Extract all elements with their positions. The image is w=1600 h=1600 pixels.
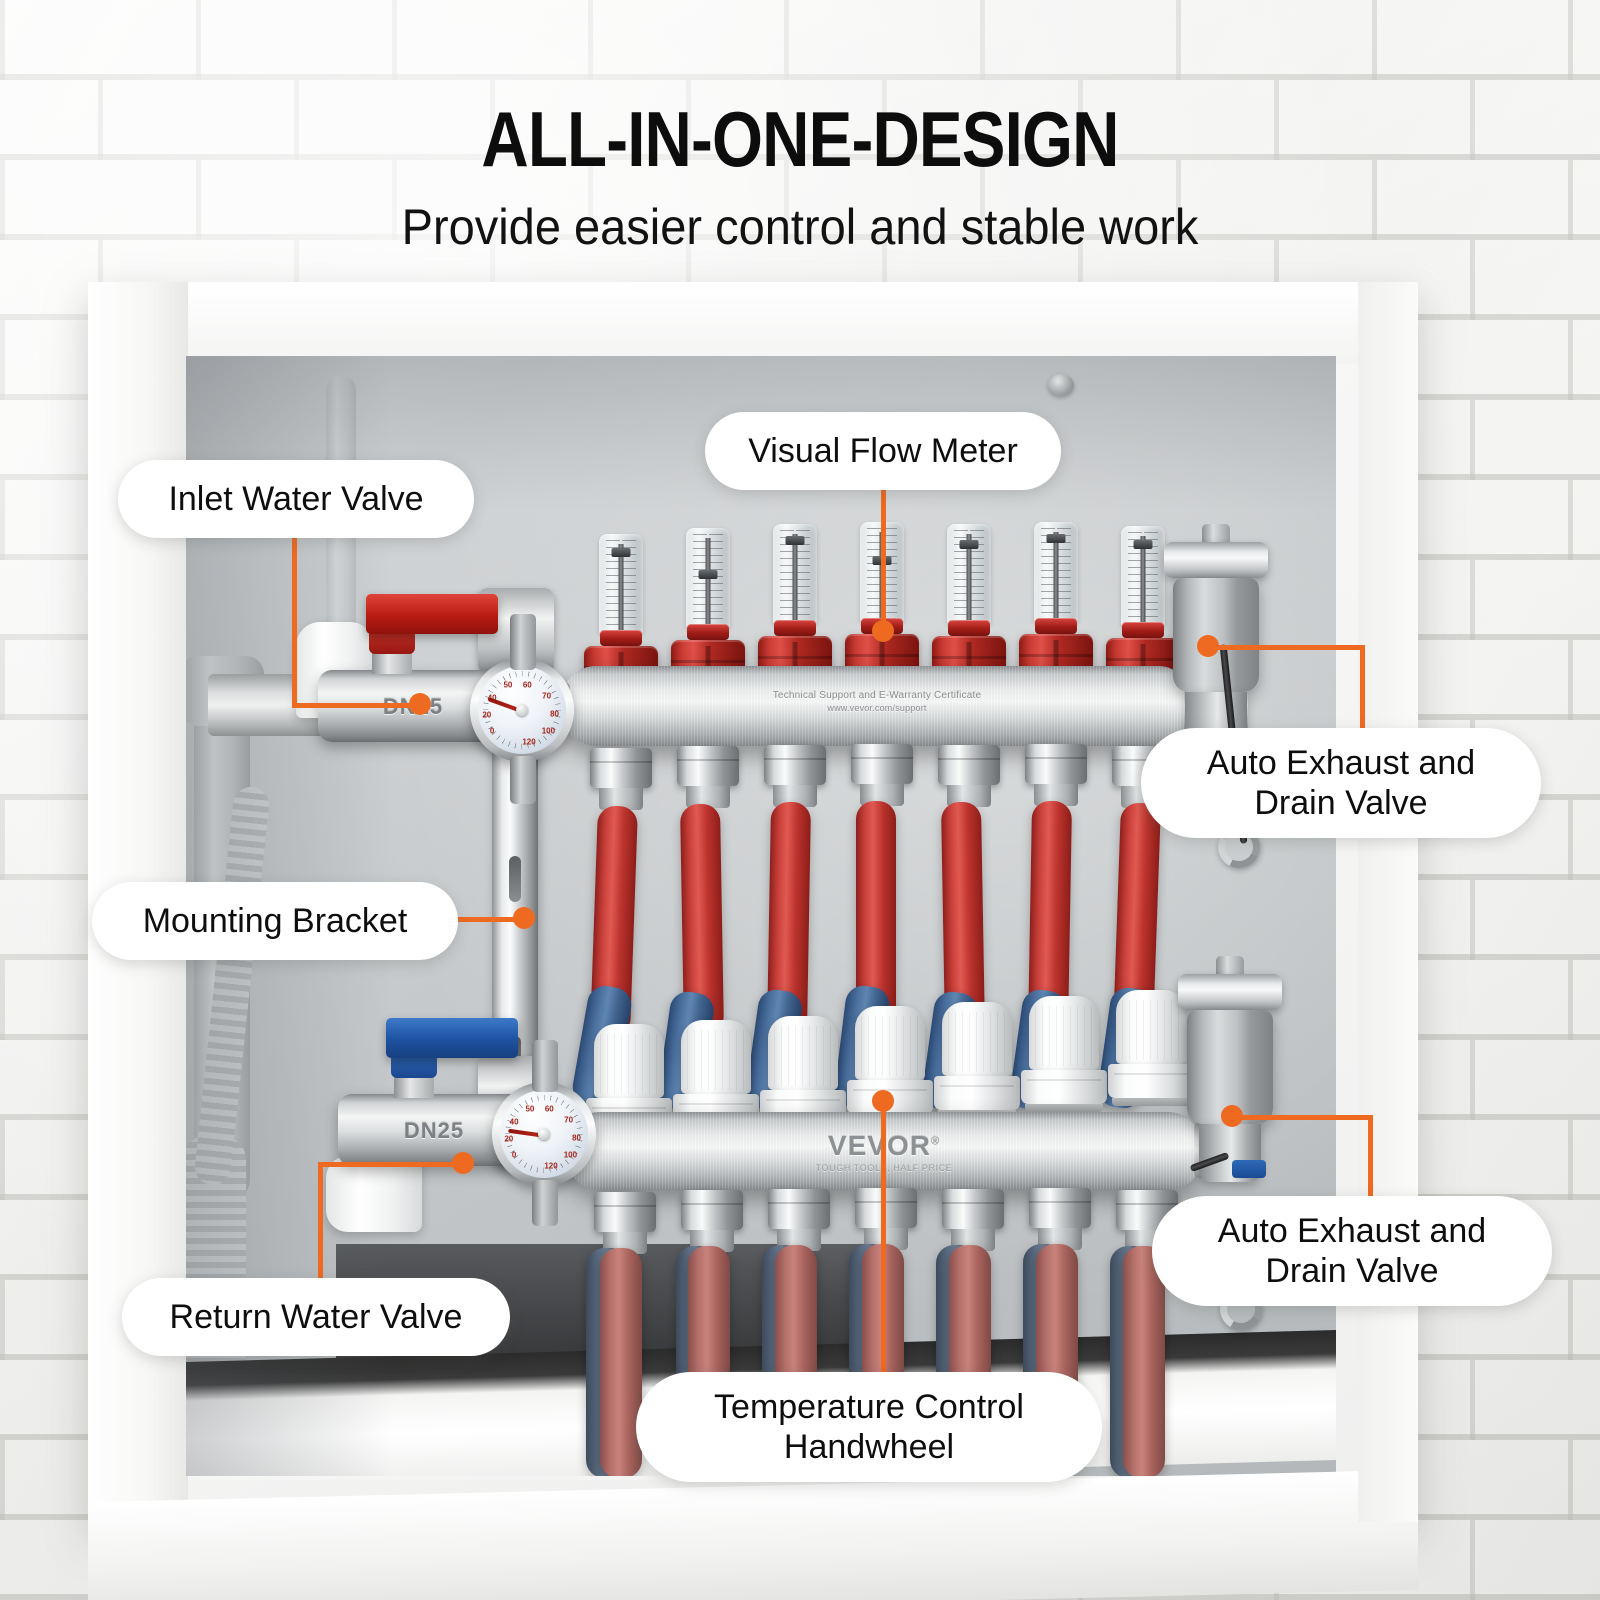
gauge-face: 0 20 40 50 60 70 80 100 120	[500, 1090, 588, 1178]
compression-fitting[interactable]	[1025, 744, 1087, 806]
engraving-line-1: Technical Support and E-Warranty Certifi…	[773, 690, 982, 701]
handwheel-dome	[681, 1020, 751, 1094]
gauge-tick-label: 50	[503, 681, 512, 690]
gauge-tick-label: 50	[525, 1105, 534, 1114]
page-title: ALL-IN-ONE-DESIGN	[128, 100, 1472, 178]
fitting-nut	[677, 746, 739, 786]
callout-mounting-bracket[interactable]: Mounting Bracket	[92, 882, 458, 960]
auto-exhaust-drain-valve-lower[interactable]	[1176, 956, 1284, 1182]
fitting-nut	[855, 1188, 917, 1228]
temperature-control-handwheel[interactable]	[934, 1002, 1020, 1118]
header-block: ALL-IN-ONE-DESIGN Provide easier control…	[0, 0, 1600, 252]
leader-dot-auto-exhaust-upper	[1197, 635, 1219, 657]
infographic-canvas: ALL-IN-ONE-DESIGN Provide easier control…	[0, 0, 1600, 1600]
registered-mark: ®	[931, 1136, 940, 1148]
brand-text: VEVOR	[828, 1130, 931, 1161]
callout-inlet-water-valve[interactable]: Inlet Water Valve	[118, 460, 474, 538]
leader-line-auto-exhaust-lower	[1230, 1115, 1372, 1120]
compression-fitting[interactable]	[942, 1189, 1004, 1251]
auto-exhaust-drain-valve-upper[interactable]	[1162, 524, 1270, 750]
leader-dot-return-water-valve	[452, 1152, 474, 1174]
gauge-tick-label: 120	[522, 737, 535, 746]
leader-dot-mounting-bracket	[513, 907, 535, 929]
leader-line-temperature-control-handwheel	[881, 1100, 886, 1380]
gauge-tick-label: 60	[545, 1105, 554, 1114]
gauge-tick-label: 70	[542, 691, 551, 700]
compression-fitting[interactable]	[1029, 1188, 1091, 1250]
gauge-tick-label: 0	[512, 1151, 516, 1160]
handwheel-base	[1025, 1104, 1103, 1112]
flow-meter-stem	[793, 534, 798, 622]
leader-line-auto-exhaust-upper	[1206, 645, 1364, 650]
flow-meter-float	[1134, 540, 1153, 549]
page-subtitle: Provide easier control and stable work	[48, 202, 1552, 252]
flow-meter-sight-tube	[599, 534, 643, 634]
exhaust-vent-cap[interactable]	[1216, 956, 1244, 974]
gauge-hub	[516, 704, 528, 716]
outgoing-supply-pipe	[1123, 1246, 1165, 1476]
handwheel-dome	[768, 1016, 838, 1090]
flow-meter-float	[612, 548, 631, 557]
flow-meter-stem	[619, 544, 624, 632]
gauge-tick-label: 20	[482, 711, 491, 720]
handwheel-ring	[934, 1076, 1020, 1110]
fitting-nut	[1025, 744, 1087, 784]
drain-tap-handle[interactable]	[1232, 1160, 1266, 1178]
fitting-nut	[851, 744, 913, 784]
outgoing-supply-pipe	[600, 1248, 642, 1476]
leader-line-return-water-valve	[318, 1162, 323, 1284]
flow-meter-float	[699, 570, 718, 579]
exhaust-vent-cap[interactable]	[1202, 524, 1230, 542]
exhaust-body	[1173, 578, 1259, 692]
flow-meter-float	[1047, 534, 1066, 543]
gauge-hub	[538, 1128, 550, 1140]
flow-meter-sight-tube	[773, 524, 817, 624]
fitting-nut	[942, 1189, 1004, 1229]
valve-size-label: DN25	[404, 1118, 464, 1144]
compression-fitting[interactable]	[938, 745, 1000, 807]
leader-line-auto-exhaust-lower	[1368, 1115, 1373, 1205]
leader-dot-temperature-control-handwheel	[872, 1090, 894, 1112]
handwheel-dome	[594, 1024, 664, 1098]
cabinet-top-edge	[88, 282, 1418, 364]
flow-meter-collar	[948, 620, 990, 636]
callout-temperature-control-handwheel[interactable]: Temperature Control Handwheel	[636, 1372, 1102, 1482]
fitting-nut	[764, 745, 826, 785]
callout-return-water-valve[interactable]: Return Water Valve	[122, 1278, 510, 1356]
exhaust-top-flange	[1164, 542, 1268, 578]
gauge-tick-label: 40	[510, 1117, 519, 1126]
callout-visual-flow-meter[interactable]: Visual Flow Meter	[705, 412, 1061, 490]
handwheel-dome	[942, 1002, 1012, 1076]
leader-dot-visual-flow-meter	[872, 620, 894, 642]
gauge-tick-label: 70	[564, 1115, 573, 1124]
manifold-engraving: Technical Support and E-Warranty Certifi…	[773, 690, 982, 713]
return-valve-handle[interactable]	[386, 1018, 518, 1058]
leader-dot-auto-exhaust-lower	[1221, 1105, 1243, 1127]
leader-line-return-water-valve	[318, 1162, 460, 1167]
bracket-slot	[509, 856, 521, 902]
flow-meter-stem	[1141, 536, 1146, 624]
handwheel-ribs	[861, 1016, 919, 1076]
gauge-face: 0 20 40 50 60 70 80 100 120	[478, 666, 566, 754]
gauge-tick-label: 20	[504, 1135, 513, 1144]
gauge-bracket-lower	[532, 1180, 558, 1226]
flow-meter-collar	[1035, 618, 1077, 634]
handwheel-ribs	[1035, 1006, 1093, 1066]
leader-dot-inlet-water-valve	[409, 693, 431, 715]
fitting-nut	[1029, 1188, 1091, 1228]
handwheel-ribs	[1122, 1000, 1180, 1060]
handwheel-ribs	[600, 1034, 658, 1094]
leader-line-auto-exhaust-upper	[1360, 645, 1365, 733]
flow-meter-stem	[706, 538, 711, 626]
gauge-tick-label: 0	[490, 727, 494, 736]
fitting-nut	[681, 1190, 743, 1230]
temperature-control-handwheel[interactable]	[1021, 996, 1107, 1112]
gauge-bracket-lower	[510, 756, 536, 804]
cabinet-right-edge	[1358, 282, 1418, 1522]
flow-meter-collar	[1122, 622, 1164, 638]
flow-meter-sight-tube	[1034, 522, 1078, 622]
handwheel-ribs	[687, 1030, 745, 1090]
flow-meter-collar	[774, 620, 816, 636]
fitting-nut	[594, 1192, 656, 1232]
inlet-temperature-gauge: 0 20 40 50 60 70 80 100 120	[470, 658, 574, 762]
flow-meter-float	[960, 540, 979, 549]
flow-meter-collar	[687, 624, 729, 640]
fitting-nut	[768, 1189, 830, 1229]
flow-meter-stem	[1054, 532, 1059, 620]
handwheel-dome	[855, 1006, 925, 1080]
callout-auto-exhaust-drain-valve-lower[interactable]: Auto Exhaust and Drain Valve	[1152, 1196, 1552, 1306]
gauge-tick-label: 60	[523, 681, 532, 690]
gauge-tick-label: 80	[572, 1133, 581, 1142]
compression-fitting[interactable]	[851, 744, 913, 806]
return-white-cap[interactable]	[326, 1156, 422, 1232]
handwheel-ring	[1021, 1070, 1107, 1104]
inlet-valve-handle[interactable]	[366, 594, 498, 634]
gauge-bracket-upper	[532, 1040, 558, 1092]
flow-meter-collar	[600, 630, 642, 646]
leader-line-inlet-water-valve	[292, 538, 297, 708]
gauge-tick-label: 120	[544, 1161, 557, 1170]
compression-fitting[interactable]	[677, 746, 739, 808]
gauge-tick-label: 80	[550, 709, 559, 718]
gauge-bracket-upper	[510, 614, 536, 670]
exhaust-top-flange	[1178, 974, 1282, 1010]
handwheel-dome	[1029, 996, 1099, 1070]
compression-fitting[interactable]	[764, 745, 826, 807]
leader-line-visual-flow-meter	[881, 490, 886, 634]
compression-fitting[interactable]	[768, 1189, 830, 1251]
handwheel-ribs	[948, 1012, 1006, 1072]
leader-line-inlet-water-valve	[292, 703, 422, 708]
compression-fitting[interactable]	[855, 1188, 917, 1250]
engraving-line-2: www.vevor.com/support	[773, 703, 982, 713]
gauge-tick-label: 100	[542, 727, 555, 736]
flow-meter-sight-tube	[1121, 526, 1165, 626]
handwheel-ribs	[774, 1026, 832, 1086]
compression-fitting[interactable]	[590, 748, 652, 810]
flow-meter-float	[786, 536, 805, 545]
upper-manifold-bar: Technical Support and E-Warranty Certifi…	[562, 666, 1192, 746]
compression-fitting[interactable]	[594, 1192, 656, 1254]
return-temperature-gauge: 0 20 40 50 60 70 80 100 120	[492, 1082, 596, 1186]
callout-auto-exhaust-drain-valve-upper[interactable]: Auto Exhaust and Drain Valve	[1141, 728, 1541, 838]
fitting-nut	[938, 745, 1000, 785]
gauge-tick-label: 100	[564, 1151, 577, 1160]
compression-fitting[interactable]	[681, 1190, 743, 1252]
fitting-nut	[590, 748, 652, 788]
flow-meter-sight-tube	[947, 524, 991, 624]
flow-meter-sight-tube	[686, 528, 730, 628]
